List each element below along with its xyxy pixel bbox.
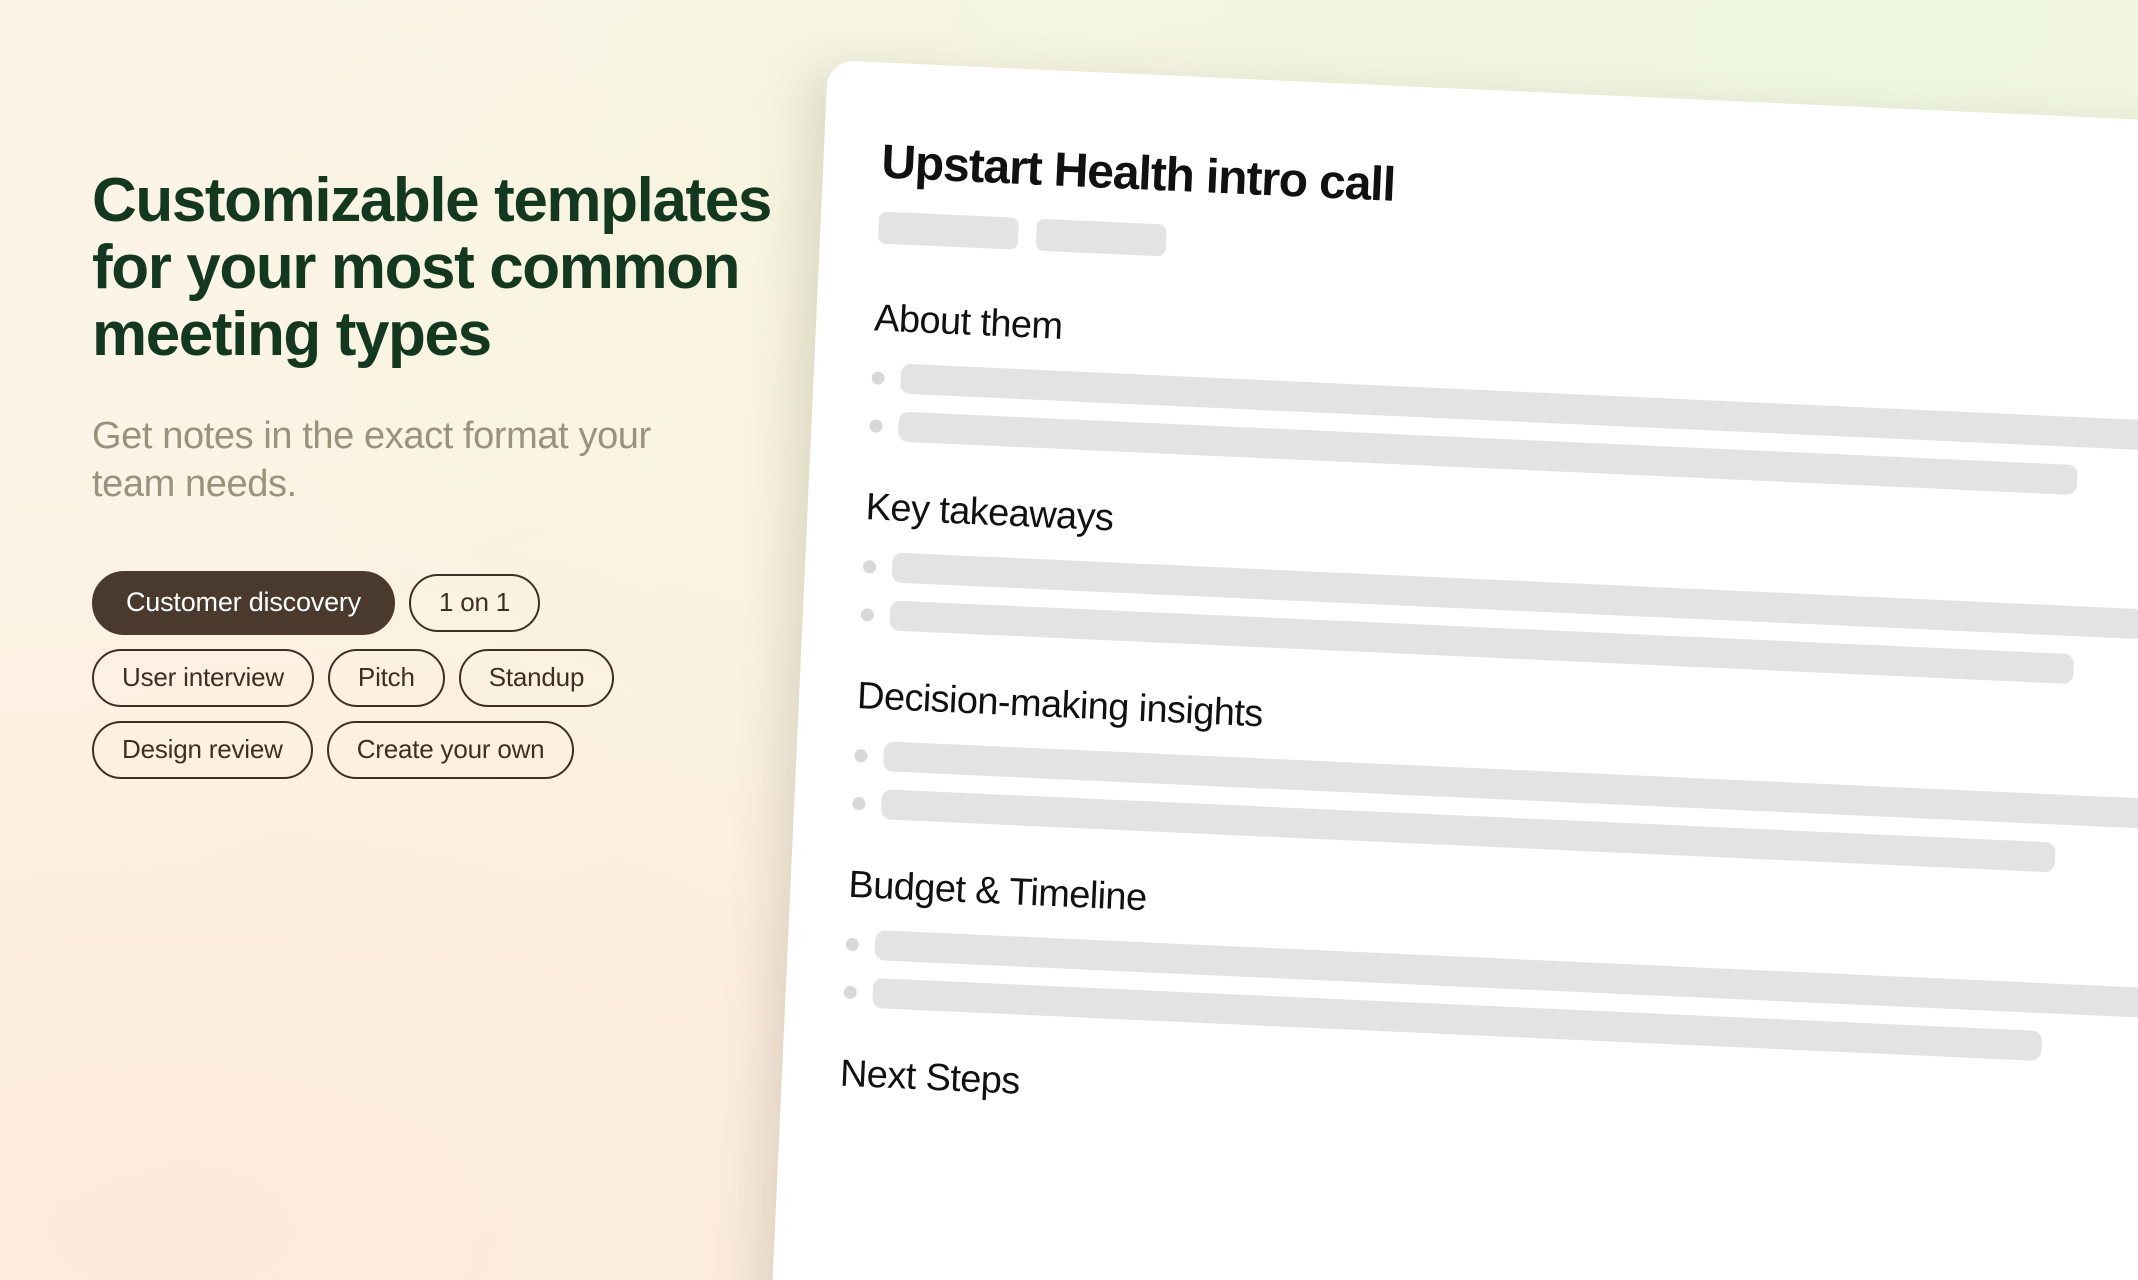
subtitle-line-1: Get notes in the exact format your	[92, 413, 752, 461]
hero-copy-column: Customizable templates for your most com…	[92, 168, 852, 793]
note-section: About them	[869, 297, 2138, 502]
note-meta-chip	[1036, 219, 1167, 257]
pill-1-on-1[interactable]: 1 on 1	[409, 574, 540, 632]
note-section-title: Next Steps	[839, 1053, 2138, 1158]
hero-section: Customizable templates for your most com…	[0, 0, 2138, 1280]
bullet-dot-icon	[843, 985, 857, 999]
subtitle-line-2: team needs.	[92, 461, 752, 509]
bullet-dot-icon	[861, 608, 875, 622]
page-title: Customizable templates for your most com…	[92, 168, 772, 369]
note-section: Next Steps	[839, 1053, 2138, 1158]
note-section: Budget & Timeline	[843, 864, 2138, 1069]
headline-line-3: meeting types	[92, 302, 772, 369]
note-card: Upstart Health intro call About themKey …	[764, 60, 2138, 1280]
note-section: Key takeaways	[860, 486, 2138, 691]
headline-line-2: for your most common	[92, 235, 772, 302]
template-pill-group: Customer discovery 1 on 1 User interview…	[92, 571, 652, 779]
bullet-dot-icon	[871, 371, 885, 385]
bullet-dot-icon	[846, 937, 860, 951]
template-pill-row-3: Design review Create your own	[92, 721, 652, 779]
bullet-dot-icon	[852, 796, 866, 810]
page-subtitle: Get notes in the exact format your team …	[92, 413, 752, 509]
note-meta-chip	[878, 211, 1019, 249]
template-pill-row-2: User interview Pitch Standup	[92, 649, 652, 707]
pill-standup[interactable]: Standup	[459, 649, 614, 707]
headline-line-1: Customizable templates	[92, 168, 772, 235]
pill-user-interview[interactable]: User interview	[92, 649, 314, 707]
pill-pitch[interactable]: Pitch	[328, 649, 445, 707]
pill-create-your-own[interactable]: Create your own	[327, 721, 575, 779]
note-sections: About themKey takeawaysDecision-making i…	[839, 297, 2138, 1157]
note-card-wrapper: Upstart Health intro call About themKey …	[764, 60, 2138, 1280]
bullet-dot-icon	[863, 560, 877, 574]
bullet-dot-icon	[854, 748, 868, 762]
template-pill-row-1: Customer discovery 1 on 1	[92, 571, 652, 635]
note-section: Decision-making insights	[852, 675, 2138, 880]
pill-design-review[interactable]: Design review	[92, 721, 313, 779]
bullet-dot-icon	[869, 419, 883, 433]
pill-customer-discovery[interactable]: Customer discovery	[92, 571, 395, 635]
